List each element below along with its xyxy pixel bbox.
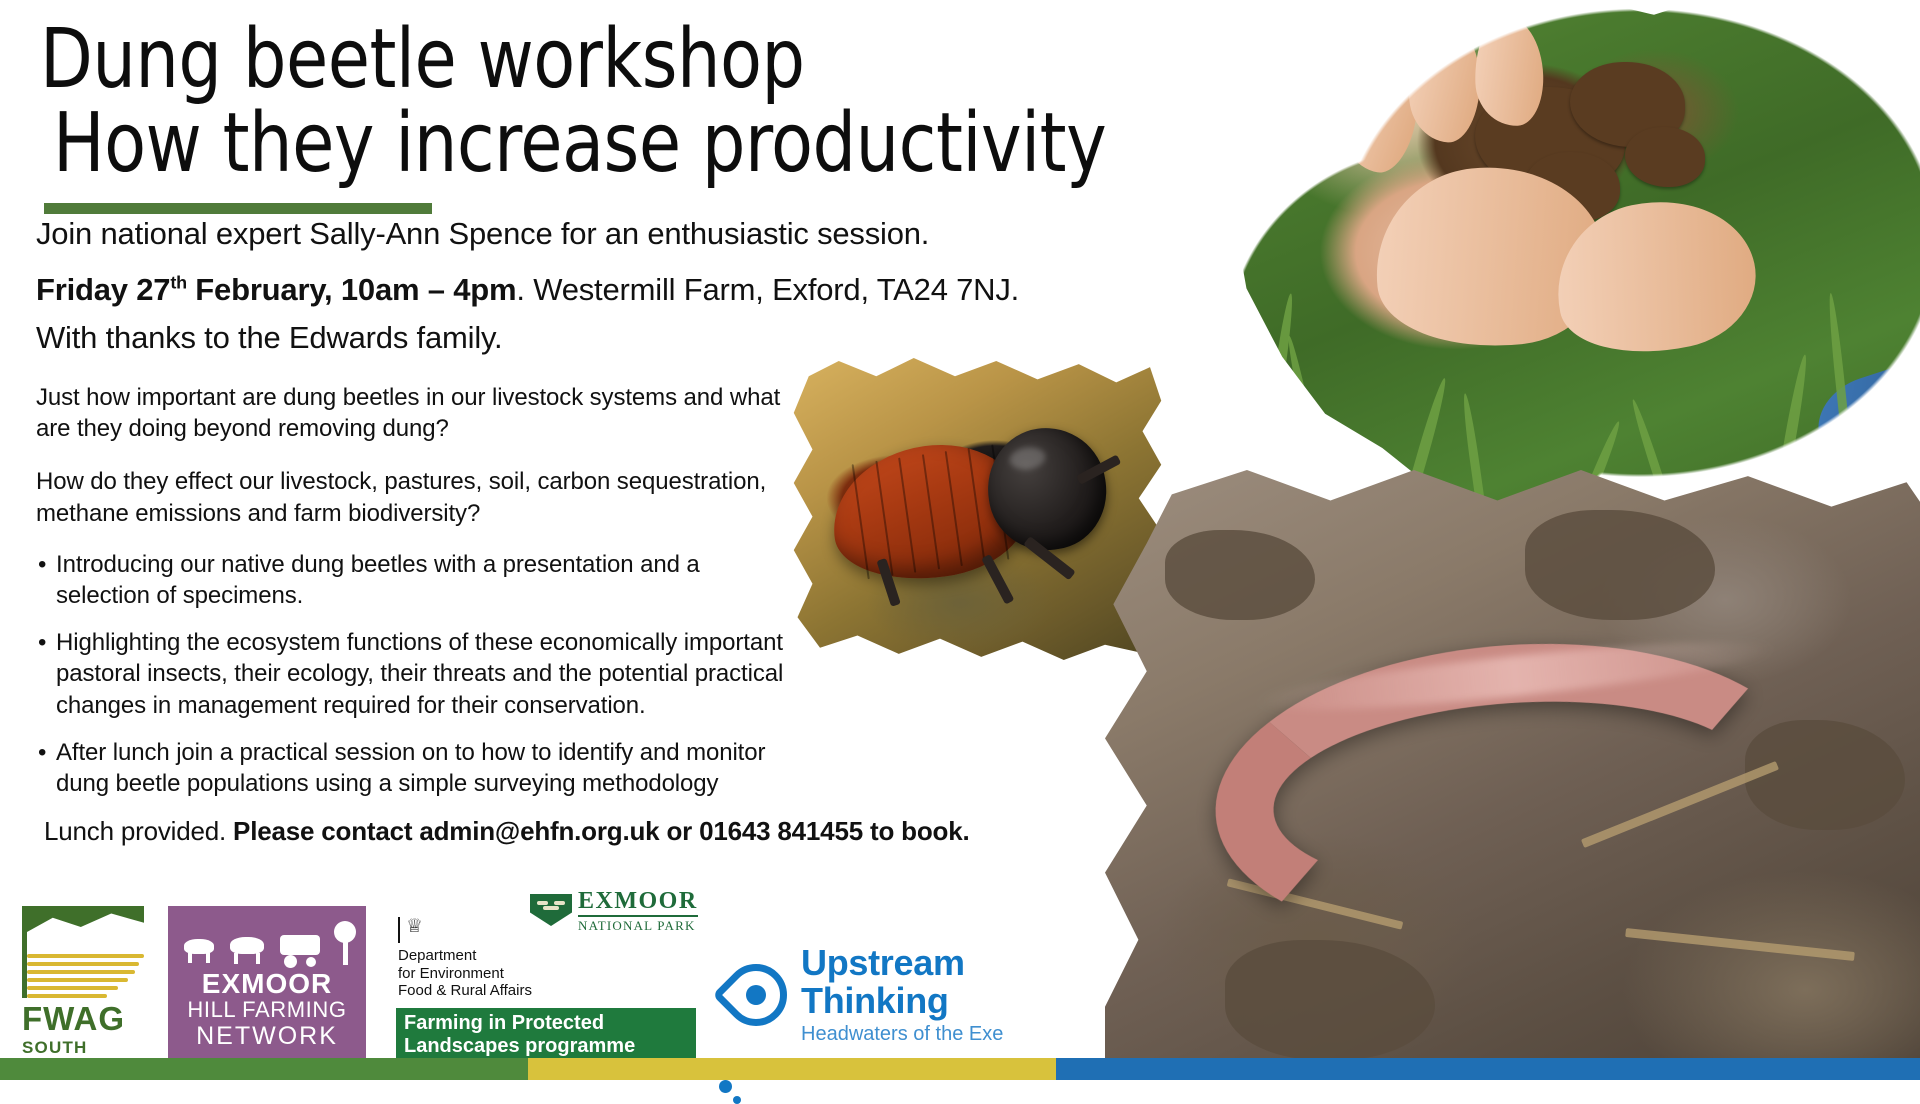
logo-exmoor-hill-farming-network: EXMOOR HILL FARMING NETWORK <box>168 906 366 1058</box>
date-bold-prefix: Friday 27 <box>36 272 170 307</box>
ehfn-line-3: NETWORK <box>168 1023 366 1051</box>
fwag-field-icon <box>22 906 144 998</box>
upstream-line-2: Headwaters of the Exe <box>801 1022 1115 1046</box>
bullet-marker-icon: • <box>38 737 46 768</box>
logo-upstream-thinking: Upstream Thinking Headwaters of the Exe <box>725 950 1115 1040</box>
upstream-line-1: Upstream Thinking <box>801 944 1115 1020</box>
bar-segment-green <box>0 1058 528 1080</box>
enp-line-1: EXMOOR <box>578 889 698 913</box>
bottom-colour-bar <box>0 1058 1920 1080</box>
list-item: • Introducing our native dung beetles wi… <box>36 549 796 611</box>
fipl-line-2: Landscapes programme <box>404 1035 688 1058</box>
bullet-text: After lunch join a practical session on … <box>56 739 765 797</box>
bullet-text: Introducing our native dung beetles with… <box>56 551 700 609</box>
lead-intro-line: Join national expert Sally-Ann Spence fo… <box>36 212 1036 256</box>
enp-line-2: NATIONAL PARK <box>578 919 698 932</box>
logo-fwag-south-west: FWAG SOUTH WEST <box>22 906 144 1058</box>
fwag-wordmark: FWAG <box>22 1002 144 1035</box>
bar-segment-gold <box>528 1058 1056 1080</box>
venue-text: . Westermill Farm, Exford, TA24 7NJ. <box>516 272 1019 307</box>
headline-line-1: Dung beetle workshop <box>40 20 1137 100</box>
logo-defra: ♕ Department for Environment Food & Rura… <box>398 917 548 1000</box>
enp-divider <box>578 915 698 917</box>
lead-date-venue-line: Friday 27th February, 10am – 4pm. Wester… <box>36 268 1036 312</box>
date-ordinal-suffix: th <box>170 273 187 293</box>
fipl-line-1: Farming in Protected <box>404 1012 688 1035</box>
list-item: • Highlighting the ecosystem functions o… <box>36 627 796 721</box>
sponsor-logo-row: FWAG SOUTH WEST EXMOOR HILL FARMING NETW… <box>0 888 1180 1058</box>
earthworm-photo <box>1105 470 1920 1080</box>
poster-body: Join national expert Sally-Ann Spence fo… <box>36 212 1036 848</box>
lunch-text: Lunch provided. <box>44 816 233 846</box>
session-bullet-list: • Introducing our native dung beetles wi… <box>36 549 796 799</box>
contact-details-text: Please contact admin@ehfn.org.uk or 0164… <box>233 816 969 846</box>
crown-glyph: ♕ <box>406 917 424 936</box>
poster-headline: Dung beetle workshop How they increase p… <box>40 20 1220 214</box>
defra-line-3: Food & Rural Affairs <box>398 982 548 1000</box>
water-drop-icon <box>712 951 800 1039</box>
ehfn-pictogram-icons <box>168 913 366 965</box>
intro-paragraph-2: How do they effect our livestock, pastur… <box>36 466 781 528</box>
bullet-marker-icon: • <box>38 627 46 658</box>
exmoor-shield-icon <box>530 894 572 926</box>
bullet-marker-icon: • <box>38 549 46 580</box>
date-bold-time: February, 10am – 4pm <box>187 272 517 307</box>
list-item: • After lunch join a practical session o… <box>36 737 796 799</box>
contact-booking-line: Lunch provided. Please contact admin@ehf… <box>36 815 1016 848</box>
intro-paragraph-1: Just how important are dung beetles in o… <box>36 382 781 444</box>
ehfn-line-1: EXMOOR <box>168 969 366 998</box>
lead-thanks-line: With thanks to the Edwards family. <box>36 316 1036 360</box>
headline-line-2: How they increase productivity <box>40 104 1137 184</box>
logo-exmoor-national-park: EXMOOR NATIONAL PARK <box>530 890 700 930</box>
bar-segment-blue <box>1056 1058 1920 1080</box>
bullet-text: Highlighting the ecosystem functions of … <box>56 629 783 718</box>
ehfn-line-2: HILL FARMING <box>168 998 366 1022</box>
royal-crown-icon: ♕ <box>398 917 424 943</box>
logo-farming-in-protected-landscapes: Farming in Protected Landscapes programm… <box>396 1008 696 1058</box>
defra-line-2: for Environment <box>398 965 548 983</box>
defra-line-1: Department <box>398 947 548 965</box>
